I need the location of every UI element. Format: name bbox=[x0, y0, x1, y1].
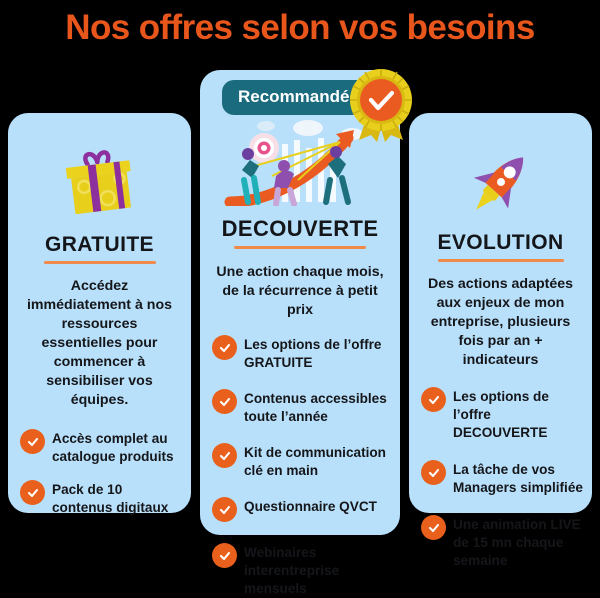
check-circle-icon bbox=[421, 460, 446, 485]
list-item: Kit de communication clé en main bbox=[208, 442, 392, 480]
title-underline bbox=[234, 246, 366, 249]
offer-description-gratuite: Accédez immédiatement à nos ressources e… bbox=[20, 277, 179, 410]
offer-title-evolution: EVOLUTION bbox=[417, 231, 584, 265]
check-circle-icon bbox=[20, 429, 45, 454]
offer-title-text: DECOUVERTE bbox=[222, 216, 379, 241]
feature-list-gratuite: Accès complet au catalogue produits Pack… bbox=[16, 428, 183, 517]
page-title: Nos offres selon vos besoins bbox=[0, 6, 600, 50]
growth-arrow-team-icon bbox=[208, 114, 392, 206]
offer-description-decouverte: Une action chaque mois, de la récurrence… bbox=[212, 263, 388, 320]
offer-title-gratuite: GRATUITE bbox=[16, 233, 183, 267]
offer-description-evolution: Des actions adaptées aux enjeux de mon e… bbox=[421, 275, 580, 370]
feature-text: La tâche de vos Managers simplifiée bbox=[453, 459, 584, 497]
list-item: Les options de l’offre GRATUITE bbox=[208, 334, 392, 372]
check-circle-icon bbox=[212, 497, 237, 522]
check-circle-icon bbox=[212, 335, 237, 360]
list-item: Questionnaire QVCT bbox=[208, 496, 392, 522]
title-underline bbox=[44, 261, 156, 264]
offer-title-text: GRATUITE bbox=[45, 233, 154, 256]
list-item: Contenus accessibles toute l’année bbox=[208, 388, 392, 426]
feature-text: Les options de l’offre GRATUITE bbox=[244, 334, 392, 372]
feature-list-decouverte: Les options de l’offre GRATUITE Contenus… bbox=[208, 334, 392, 598]
list-item: La tâche de vos Managers simplifiée bbox=[417, 459, 584, 497]
check-circle-icon bbox=[20, 480, 45, 505]
feature-text: Questionnaire QVCT bbox=[244, 496, 377, 516]
list-item: Une animation LIVE de 15 mn chaque semai… bbox=[417, 514, 584, 570]
feature-text: Contenus accessibles toute l’année bbox=[244, 388, 392, 426]
offer-card-decouverte[interactable]: DECOUVERTE Une action chaque mois, de la… bbox=[200, 70, 400, 535]
feature-text: Kit de communication clé en main bbox=[244, 442, 392, 480]
check-circle-icon bbox=[421, 387, 446, 412]
feature-text: Webinaires interentreprise mensuels bbox=[244, 542, 392, 598]
feature-text: Les options de l’offre DECOUVERTE bbox=[453, 386, 584, 442]
feature-list-evolution: Les options de l’offre DECOUVERTE La tâc… bbox=[417, 386, 584, 570]
list-item: Webinaires interentreprise mensuels bbox=[208, 542, 392, 598]
feature-text: Pack de 10 contenus digitaux bbox=[52, 479, 183, 517]
offer-card-evolution[interactable]: EVOLUTION Des actions adaptées aux enjeu… bbox=[409, 113, 592, 513]
list-item: Les options de l’offre DECOUVERTE bbox=[417, 386, 584, 442]
check-circle-icon bbox=[212, 443, 237, 468]
title-underline bbox=[438, 259, 564, 262]
offer-card-gratuite[interactable]: GRATUITE Accédez immédiatement à nos res… bbox=[8, 113, 191, 513]
feature-text: Une animation LIVE de 15 mn chaque semai… bbox=[453, 514, 584, 570]
list-item: Pack de 10 contenus digitaux bbox=[16, 479, 183, 517]
check-circle-icon bbox=[212, 543, 237, 568]
feature-text: Accès complet au catalogue produits bbox=[52, 428, 183, 466]
check-circle-icon bbox=[212, 389, 237, 414]
gift-box-icon bbox=[16, 145, 183, 223]
list-item: Accès complet au catalogue produits bbox=[16, 428, 183, 466]
check-circle-icon bbox=[421, 515, 446, 540]
offer-title-decouverte: DECOUVERTE bbox=[208, 216, 392, 252]
rocket-icon bbox=[417, 143, 584, 221]
offer-title-text: EVOLUTION bbox=[437, 231, 563, 254]
